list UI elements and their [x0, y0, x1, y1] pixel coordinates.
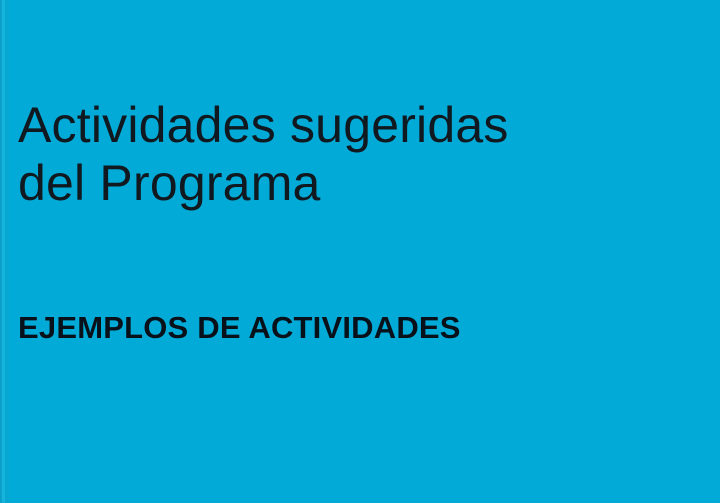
left-edge-band-outer	[0, 0, 2, 503]
presentation-slide: Actividades sugeridas del Programa EJEMP…	[0, 0, 720, 503]
slide-content-area: Actividades sugeridas del Programa EJEMP…	[18, 0, 720, 503]
slide-subtitle: EJEMPLOS DE ACTIVIDADES	[18, 310, 638, 346]
left-edge-band-inner	[5, 0, 9, 503]
left-edge-band-middle	[2, 0, 5, 503]
slide-title: Actividades sugeridas del Programa	[18, 96, 618, 212]
